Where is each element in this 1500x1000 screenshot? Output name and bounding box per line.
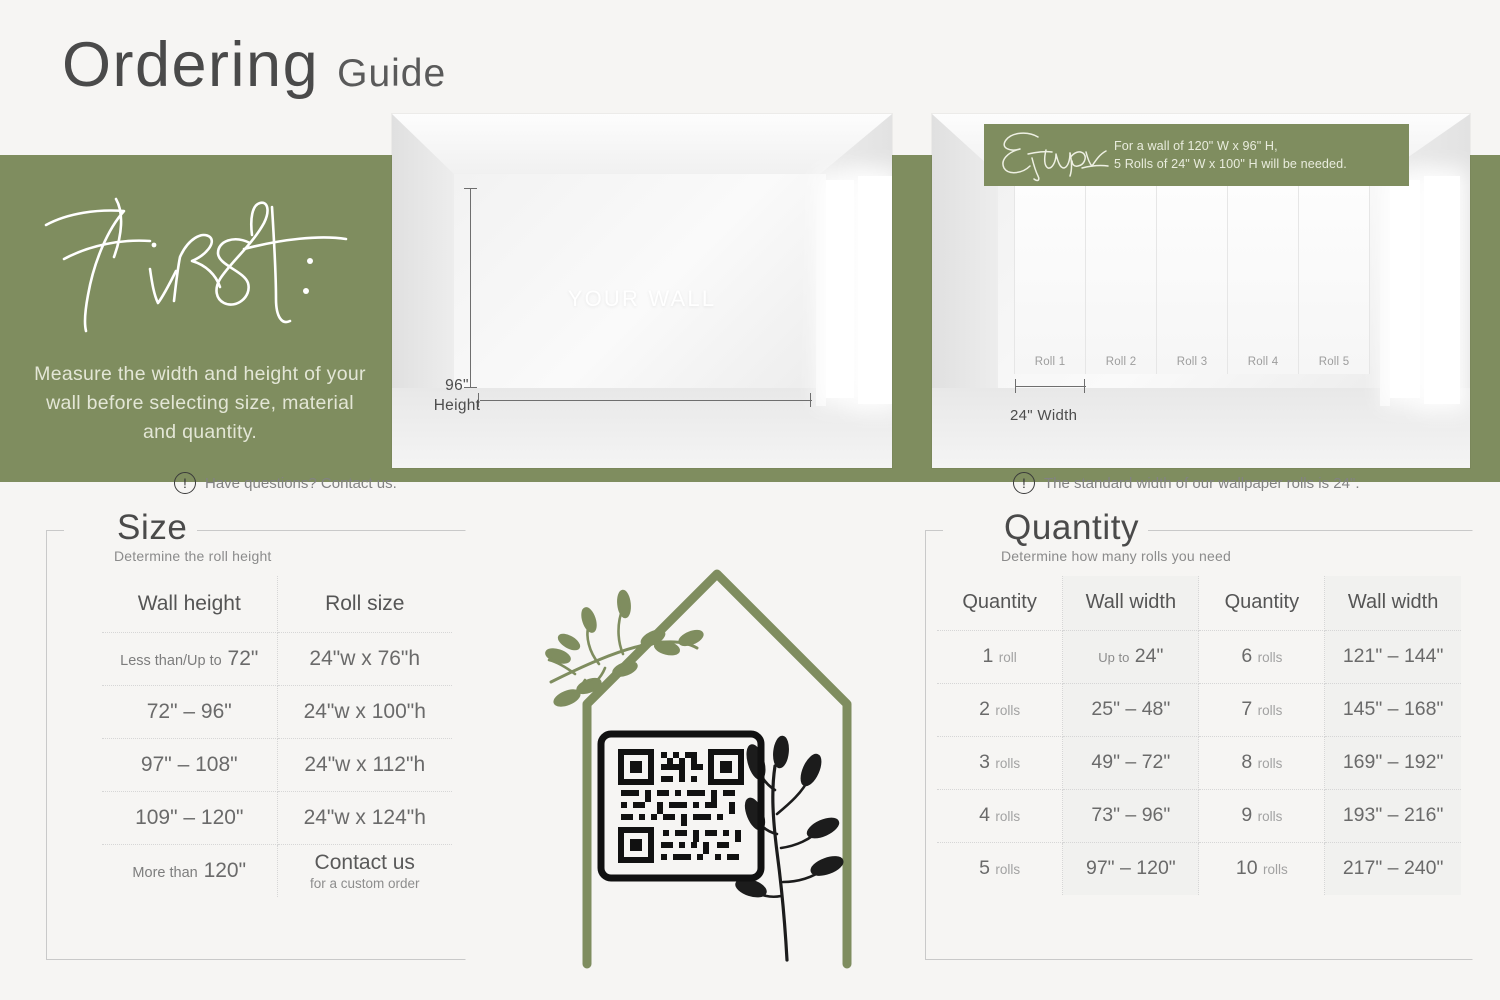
qty-cell-2: 6 rolls — [1199, 630, 1325, 683]
qty-unit: rolls — [1258, 756, 1283, 771]
width-cell-1: 25" – 48" — [1063, 683, 1199, 736]
size-col-wall-height: Wall height — [102, 576, 277, 632]
page-header: Ordering Guide — [62, 34, 446, 97]
size-wall-height-cell: 72" – 96" — [102, 685, 277, 738]
size-row-prefix: More than — [132, 865, 197, 881]
qty-number: 8 — [1241, 751, 1252, 773]
width-cell-1: 49" – 72" — [1063, 736, 1199, 789]
window-pane-right-2 — [1424, 176, 1460, 404]
size-table: Wall height Roll size Less than/Up to 72… — [102, 576, 452, 897]
size-roll-cell: Contact us for a custom order — [277, 844, 452, 897]
qty-cell-1: 5 rolls — [937, 842, 1063, 895]
your-wall-label: YOUR WALL — [392, 286, 892, 312]
wall-example-image-1: YOUR WALL 96" Height 120" Width — [392, 114, 892, 468]
table-row: More than 120" Contact us for a custom o… — [102, 844, 452, 897]
roll-width-label: 24" Width — [1010, 406, 1077, 426]
width-dimension-line — [480, 400, 812, 401]
width-prefix: Up to — [1098, 650, 1129, 665]
width-value: 24" — [1135, 645, 1164, 667]
qty-cell-2: 8 rolls — [1199, 736, 1325, 789]
size-frame-notch — [64, 530, 110, 531]
quantity-footnote: ! The standard width of our wallpaper ro… — [1013, 472, 1359, 494]
table-row: 3 rolls 49" – 72" 8 rolls 169" – 192" — [937, 736, 1461, 789]
example-script-lettering — [994, 128, 1112, 182]
custom-order-note: for a custom order — [282, 876, 449, 891]
roll-strip: Roll 1 — [1014, 186, 1086, 374]
wall-example-image-2: Roll 1 Roll 2 Roll 3 Roll 4 Roll 5 24" W… — [932, 114, 1470, 468]
width-dim-tick-right — [810, 393, 811, 407]
qty-cell-2: 7 rolls — [1199, 683, 1325, 736]
width-cell-2: 145" – 168" — [1325, 683, 1461, 736]
size-section-subtitle: Determine the roll height — [114, 548, 272, 564]
quantity-section-title: Quantity — [995, 508, 1148, 548]
table-row: 1 roll Up to 24" 6 rolls 121" – 144" — [937, 630, 1461, 683]
qty-unit: rolls — [1258, 650, 1283, 665]
qty-col-quantity-2: Quantity — [1199, 576, 1325, 630]
wall-height-word: Height — [422, 396, 492, 416]
room-render-2: Roll 1 Roll 2 Roll 3 Roll 4 Roll 5 24" W… — [932, 114, 1470, 468]
wallpaper-roll-strips: Roll 1 Roll 2 Roll 3 Roll 4 Roll 5 — [1014, 186, 1370, 374]
exclamation-circle-icon: ! — [174, 472, 196, 494]
size-footnote: ! Have questions? Contact us. — [174, 472, 397, 494]
first-script-lettering — [38, 183, 368, 343]
example-banner-line1: For a wall of 120" W x 96" H, — [1114, 137, 1347, 155]
table-row: Less than/Up to 72" 24"w x 76"h — [102, 632, 452, 685]
roll-width-tick-left — [1015, 379, 1016, 393]
roll-strip: Roll 2 — [1086, 186, 1157, 374]
roll-label: Roll 5 — [1299, 356, 1369, 368]
qty-col-quantity-1: Quantity — [937, 576, 1063, 630]
qty-cell-2: 9 rolls — [1199, 789, 1325, 842]
width-cell-2: 121" – 144" — [1325, 630, 1461, 683]
qty-col-wall-width-2: Wall width — [1325, 576, 1461, 630]
size-roll-cell: 24"w x 112"h — [277, 738, 452, 791]
example-banner-line2: 5 Rolls of 24" W x 100" H will be needed… — [1114, 155, 1347, 173]
first-step-block: Measure the width and height of your wal… — [0, 155, 392, 482]
qty-number: 7 — [1241, 698, 1252, 720]
table-row: 109" – 120" 24"w x 124"h — [102, 791, 452, 844]
example-banner: For a wall of 120" W x 96" H, 5 Rolls of… — [984, 124, 1409, 186]
width-cell-2: 217" – 240" — [1325, 842, 1461, 895]
table-row: 5 rolls 97" – 120" 10 rolls 217" – 240" — [937, 842, 1461, 895]
qty-number: 1 — [982, 645, 993, 667]
qty-cell-1: 4 rolls — [937, 789, 1063, 842]
roll-label: Roll 1 — [1015, 356, 1085, 368]
roll-strip: Roll 4 — [1228, 186, 1299, 374]
roll-width-tick-right — [1084, 379, 1085, 393]
width-cell-2: 169" – 192" — [1325, 736, 1461, 789]
roll-strip: Roll 3 — [1157, 186, 1228, 374]
qty-number: 2 — [979, 698, 990, 720]
size-table-header-row: Wall height Roll size — [102, 576, 452, 632]
qty-number: 9 — [1241, 804, 1252, 826]
house-outline-icon — [545, 552, 890, 972]
size-wall-height-cell: 97" – 108" — [102, 738, 277, 791]
table-row: 72" – 96" 24"w x 100"h — [102, 685, 452, 738]
width-cell-1: 97" – 120" — [1063, 842, 1199, 895]
roll-width-dimension-line — [1016, 386, 1086, 387]
page-title-main: Ordering — [62, 34, 319, 97]
qty-unit: rolls — [995, 703, 1020, 718]
qty-unit: rolls — [1258, 809, 1283, 824]
qty-number: 6 — [1241, 645, 1252, 667]
table-row: 2 rolls 25" – 48" 7 rolls 145" – 168" — [937, 683, 1461, 736]
size-row-height: 120" — [204, 859, 247, 882]
width-cell-1: 73" – 96" — [1063, 789, 1199, 842]
qty-unit: rolls — [995, 862, 1020, 877]
quantity-section-subtitle: Determine how many rolls you need — [1001, 548, 1231, 564]
size-section-title: Size — [108, 508, 197, 548]
room-ceiling — [392, 114, 892, 176]
width-cell-1: Up to 24" — [1063, 630, 1199, 683]
qr-code — [601, 734, 761, 878]
exclamation-circle-icon: ! — [1013, 472, 1035, 494]
house-qr-graphic — [545, 552, 890, 972]
qty-cell-2: 10 rolls — [1199, 842, 1325, 895]
qty-unit: roll — [999, 650, 1017, 665]
size-roll-cell: 24"w x 100"h — [277, 685, 452, 738]
qty-cell-1: 3 rolls — [937, 736, 1063, 789]
wall-height-dimension: 96" Height — [422, 376, 492, 416]
page-title-sub: Guide — [337, 54, 446, 93]
size-roll-cell: 24"w x 124"h — [277, 791, 452, 844]
quantity-table-header-row: Quantity Wall width Quantity Wall width — [937, 576, 1461, 630]
qty-col-wall-width-1: Wall width — [1063, 576, 1199, 630]
qty-number: 3 — [979, 751, 990, 773]
window-pane-left-2 — [1390, 180, 1420, 398]
quantity-footnote-text: The standard width of our wallpaper roll… — [1044, 475, 1359, 492]
size-row-prefix: Less than/Up to — [120, 653, 222, 669]
qty-number: 10 — [1236, 857, 1258, 879]
ordering-guide-page: Ordering Guide Measure the width and hei… — [0, 0, 1500, 1000]
roll-label: Roll 3 — [1157, 356, 1227, 368]
size-roll-cell: 24"w x 76"h — [277, 632, 452, 685]
wall-height-value: 96" — [422, 376, 492, 396]
qty-unit: rolls — [995, 809, 1020, 824]
room-back-wall — [454, 174, 820, 388]
first-step-description: Measure the width and height of your wal… — [30, 360, 370, 447]
roll-label: Roll 4 — [1228, 356, 1298, 368]
qty-unit: rolls — [1263, 862, 1288, 877]
qty-cell-1: 1 roll — [937, 630, 1063, 683]
example-banner-text: For a wall of 120" W x 96" H, 5 Rolls of… — [1114, 137, 1347, 174]
qty-number: 5 — [979, 857, 990, 879]
size-col-roll-size: Roll size — [277, 576, 452, 632]
qty-unit: rolls — [995, 756, 1020, 771]
quantity-table: Quantity Wall width Quantity Wall width … — [937, 576, 1461, 895]
table-row: 4 rolls 73" – 96" 9 rolls 193" – 216" — [937, 789, 1461, 842]
size-row-height: 72" — [228, 647, 259, 670]
room-render-1: YOUR WALL 96" Height 120" Width — [392, 114, 892, 468]
roll-label: Roll 2 — [1086, 356, 1156, 368]
width-cell-2: 193" – 216" — [1325, 789, 1461, 842]
qty-cell-1: 2 rolls — [937, 683, 1063, 736]
qty-number: 4 — [979, 804, 990, 826]
quantity-frame-notch — [943, 530, 995, 531]
table-row: 97" – 108" 24"w x 112"h — [102, 738, 452, 791]
size-wall-height-cell: More than 120" — [102, 844, 277, 897]
size-footnote-text[interactable]: Have questions? Contact us. — [205, 475, 397, 492]
window-mullion-2 — [1380, 174, 1390, 406]
qty-unit: rolls — [1258, 703, 1283, 718]
contact-us-link[interactable]: Contact us — [315, 851, 415, 874]
height-dim-tick-top — [464, 188, 477, 189]
roll-strip: Roll 5 — [1299, 186, 1370, 374]
size-wall-height-cell: Less than/Up to 72" — [102, 632, 277, 685]
size-wall-height-cell: 109" – 120" — [102, 791, 277, 844]
